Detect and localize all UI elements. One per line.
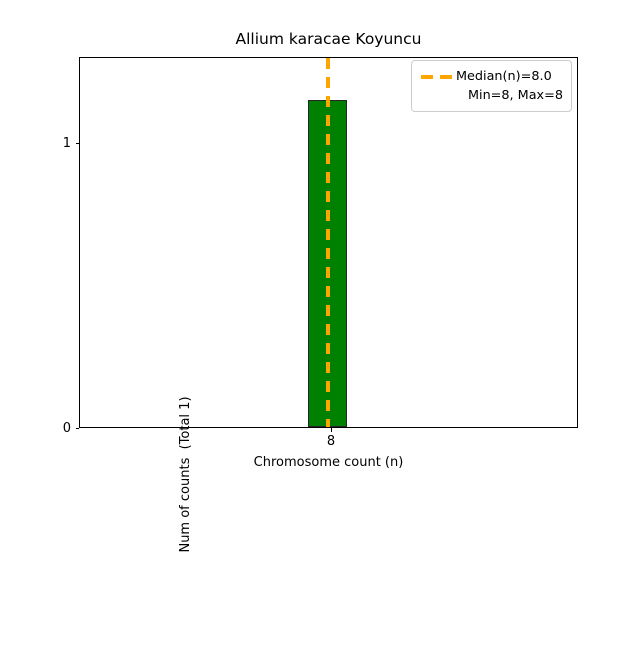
xtick-label-8: 8 [311,434,351,449]
x-axis-label: Chromosome count (n) [79,455,578,470]
legend-label-minmax: Min=8, Max=8 [420,86,563,105]
legend-entry-median: Median(n)=8.0 [420,67,563,86]
plot-area [79,57,578,428]
y-axis-label: Num of counts (Total 1) [175,289,197,660]
legend-label-median: Median(n)=8.0 [456,67,563,86]
xtick-mark-8 [331,428,332,432]
ytick-mark-0 [76,428,80,429]
legend-entry-minmax: Min=8, Max=8 [420,86,563,105]
page-title: Allium karacae Koyuncu [79,30,578,49]
ytick-label-0: 0 [50,422,71,435]
chart-figure: Allium karacae Koyuncu 0 1 8 Chromosome … [0,0,640,480]
dashed-line-swatch-icon [420,67,456,86]
median-line [326,58,330,427]
ytick-mark-1 [76,143,80,144]
legend: Median(n)=8.0 Min=8, Max=8 [411,60,572,112]
ytick-label-1: 1 [50,137,71,150]
